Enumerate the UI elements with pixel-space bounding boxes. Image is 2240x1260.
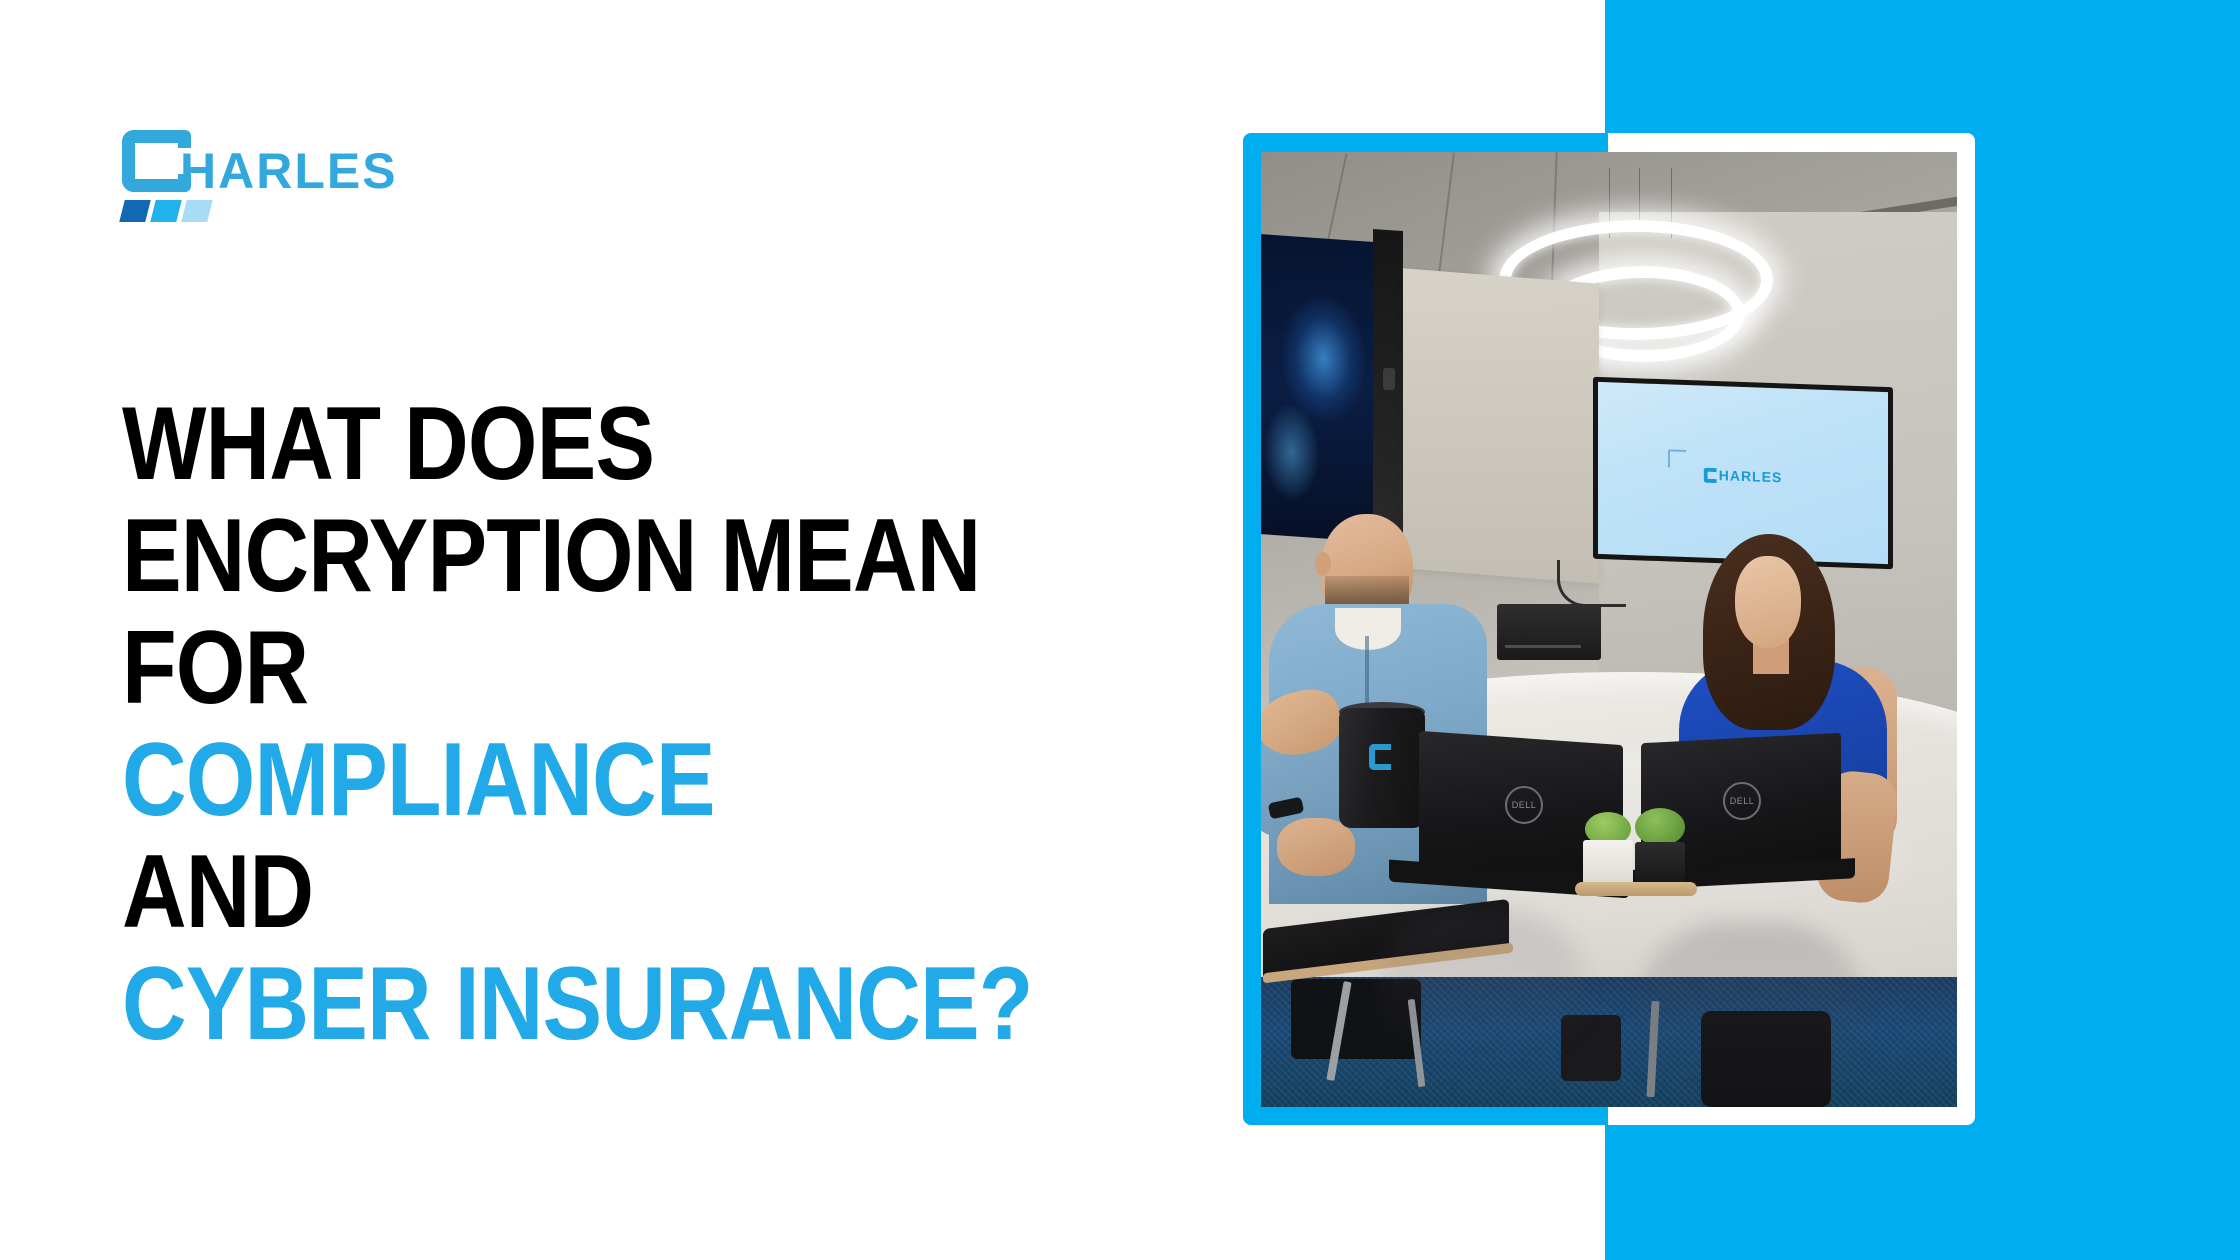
page-title: WHAT DOES ENCRYPTION MEAN FOR COMPLIANCE…: [122, 388, 1182, 1060]
charles-logo[interactable]: HARLES: [122, 130, 452, 225]
blue-artwork-panel: [1261, 234, 1381, 543]
person-man-hand: [1277, 818, 1355, 876]
person-woman-face: [1735, 556, 1801, 648]
mug-logo-c-icon: [1369, 744, 1391, 770]
headline-line-3: FOR: [122, 612, 1034, 724]
meeting-room-photo: HARLES: [1261, 152, 1957, 1107]
acoustic-panel: [1403, 268, 1599, 583]
headline-line-4: COMPLIANCE: [122, 724, 1034, 836]
person-man-ear: [1315, 552, 1331, 576]
laptop-right-brand: DELL: [1723, 782, 1761, 820]
succulent-plant: [1635, 808, 1685, 846]
tv-logo-c-icon: [1704, 468, 1717, 483]
wall-camera-icon: [1383, 368, 1395, 390]
tv-screen: HARLES: [1598, 382, 1888, 564]
headline-line-2: ENCRYPTION MEAN: [122, 500, 1034, 612]
logo-bar-mid-icon: [150, 200, 181, 222]
logo-wordmark: HARLES: [122, 130, 398, 192]
logo-c-mark-icon: [122, 130, 178, 192]
plant-tray: [1575, 882, 1697, 896]
plant-pot-white: [1583, 840, 1633, 884]
tv-logo-text: HARLES: [1719, 468, 1783, 486]
headline-line-1: WHAT DOES: [122, 388, 1034, 500]
tv-corner-bracket-icon: [1668, 450, 1686, 469]
tv-charles-logo: HARLES: [1704, 467, 1783, 486]
logo-bar-dark-icon: [119, 200, 150, 222]
table-reflection: [1641, 922, 1861, 1107]
office-printer: [1497, 604, 1601, 660]
logo-bar-light-icon: [181, 200, 212, 222]
plant-pot-black: [1635, 842, 1685, 886]
slide-canvas: HARLES WHAT DOES ENCRYPTION MEAN FOR COM…: [0, 0, 2240, 1260]
table-reflection: [1381, 912, 1581, 1062]
logo-text: HARLES: [180, 149, 398, 194]
logo-bars: [122, 200, 210, 222]
headline-line-6: CYBER INSURANCE?: [122, 948, 1034, 1060]
tv-cable: [1557, 560, 1626, 607]
laptop-left-brand: DELL: [1505, 786, 1543, 824]
headline-line-5: AND: [122, 836, 1034, 948]
